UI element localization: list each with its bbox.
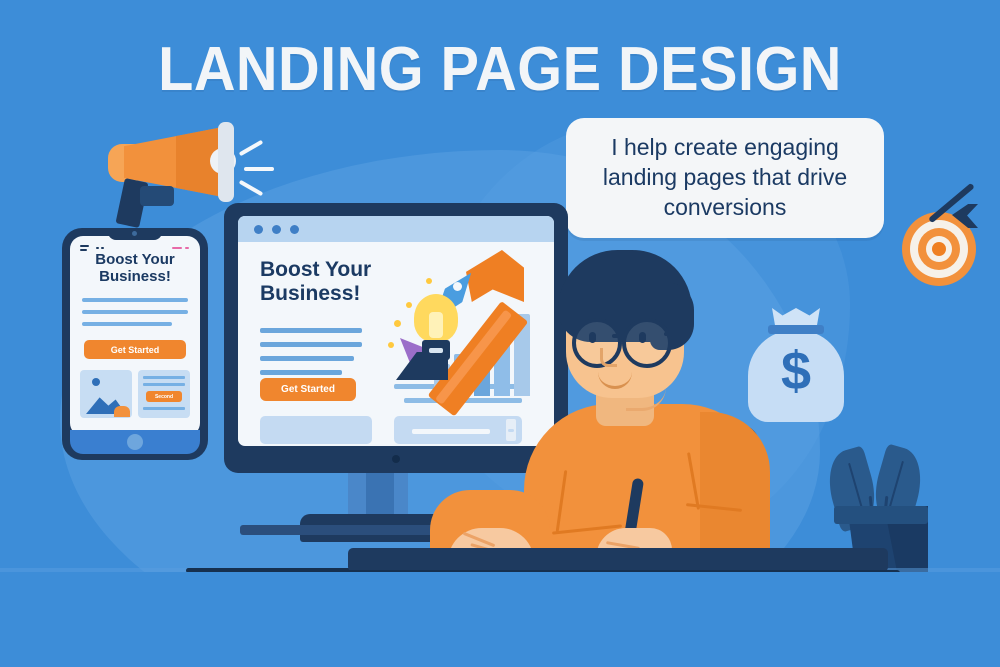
desktop-cta-button[interactable]: Get Started [260,378,356,401]
phone-cta-button[interactable]: Get Started [84,340,186,359]
glasses-temple-icon [664,332,680,336]
phone-battery-icon [172,247,182,249]
spark-dot [394,320,401,327]
dollar-sign-icon: $ [748,340,844,402]
speech-bubble: I help create engaging landing pages tha… [566,118,884,238]
keyboard[interactable] [348,548,888,572]
phone-heading: Boost Your Business! [78,252,192,286]
phone-image-sun-icon [92,378,100,386]
monitor-screen: Boost Your Business! Get Started [238,216,554,446]
lightbulb-filament [429,312,443,338]
plant-pot-rim [834,506,928,524]
rocket-window-icon [453,282,462,291]
browser-title-bar [238,216,554,242]
phone-secondary-button[interactable]: Second [146,391,182,402]
desktop-text-line [260,370,342,375]
illustration-canvas: LANDING PAGE DESIGN I help create engagi… [0,0,1000,667]
desktop-text-line [260,328,362,333]
desk-surface [0,572,1000,667]
money-bag-tie [768,325,824,334]
megaphone-grip [140,186,174,206]
phone-image-accent [114,406,130,417]
browser-dot-close-icon[interactable] [254,225,263,234]
growth-arrow-head [466,250,524,302]
phone-text-line [82,298,188,302]
phone-camera-icon [132,231,137,236]
lightbulb-slot [429,348,443,353]
desktop-heading: Boost Your Business! [260,258,420,306]
phone-text-line [82,322,172,326]
phone-screen: Boost Your Business! Get Started Second [70,236,200,436]
desktop-footer-input-bar [412,429,490,434]
speech-bubble-text: I help create engaging landing pages tha… [566,119,884,237]
glasses-bridge-icon [612,334,626,338]
monitor-power-led-icon [392,455,400,463]
megaphone-sound-ray [239,180,264,196]
browser-dot-minimize-icon[interactable] [272,225,281,234]
page-title: LANDING PAGE DESIGN [35,34,965,105]
megaphone-rim [218,122,234,202]
phone-signal-icon [80,245,89,247]
desktop-text-line [260,342,362,347]
phone-home-button[interactable] [127,434,143,450]
phone-wifi-icon [101,247,104,249]
monitor-neck-shade [366,473,394,519]
desktop-footer-slider-tick [508,429,514,432]
phone-card-line [143,407,185,410]
megaphone-sound-ray [239,140,264,156]
phone-text-line [82,310,188,314]
phone-signal-icon [80,249,87,251]
spark-dot [406,302,412,308]
browser-dot-maximize-icon[interactable] [290,225,299,234]
megaphone-sound-ray [244,167,274,171]
desktop-text-line [260,356,354,361]
desktop-footer-box-left[interactable] [260,416,372,444]
person-eye [589,332,596,343]
phone-card-line [143,383,185,386]
glasses-right-lens-icon [622,318,672,368]
phone-battery-tip-icon [185,247,189,249]
phone-card-line [143,376,185,379]
person-nose [600,348,617,367]
person-eye [639,332,646,343]
target-bullseye [932,242,946,256]
phone-wifi-icon [96,247,99,249]
spark-dot [426,278,432,284]
spark-dot [388,342,394,348]
